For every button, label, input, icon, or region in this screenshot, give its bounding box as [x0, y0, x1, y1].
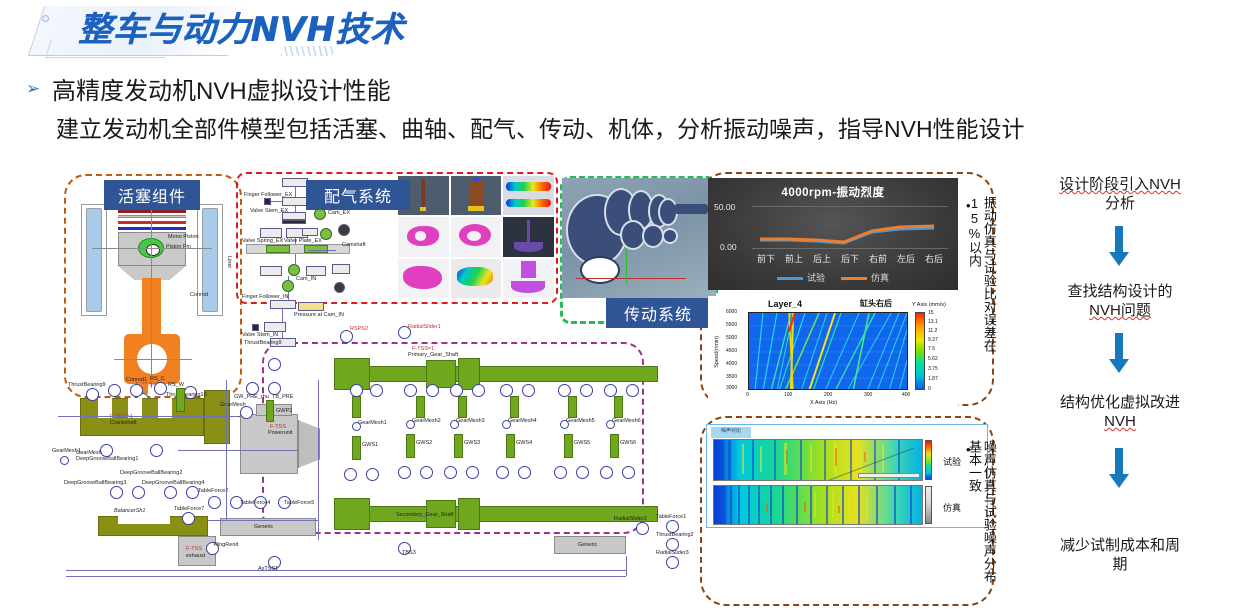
gear-lower-3: [662, 228, 678, 244]
spectrogram-sim-label: 仿真: [943, 501, 961, 514]
gw-pre-rhu-block: [176, 388, 185, 412]
label-cam-in: Cam_IN: [296, 276, 316, 282]
order-lines-svg: [749, 313, 908, 390]
label-dgbb2: DeepGrooveBallBearing2: [120, 470, 182, 476]
bearing-node-1: [86, 388, 99, 401]
label-axtss2: AxTSS1: [258, 566, 278, 572]
spectrogram-test-label: 试验: [943, 455, 961, 468]
flow-step-2-line1: 查找结构设计的: [1020, 283, 1220, 302]
section-heading: 高精度发动机NVH虚拟设计性能: [52, 71, 391, 106]
label-gearmesh1: GearMesh1: [358, 420, 387, 426]
label-rsps1: RSPS2: [350, 326, 368, 332]
chart-title-vibration: 4000rpm-振动烈度: [708, 184, 958, 200]
label-generic2: Generic: [578, 542, 597, 548]
flow-step-1-line1: 设计阶段引入NVH: [1059, 176, 1181, 193]
ytick-5500: 5500: [726, 322, 737, 328]
thumb-cam-lobe-2: [451, 217, 502, 256]
flow-step-2: 查找结构设计的 NVH问题: [1020, 283, 1220, 321]
chip-piston-assembly: 活塞组件: [104, 180, 200, 210]
flow-step-4: 减少试制成本和周 期: [1020, 537, 1220, 575]
chip-valvetrain: 配气系统: [306, 180, 410, 210]
gear-lower-2: [642, 224, 664, 248]
label-gw-pre-rhu: RS_W: [168, 382, 184, 388]
bearing-node-10: [164, 486, 177, 499]
label-finger-follower-ex: Finger Follower_EX: [244, 192, 292, 198]
piston-ring-2: [118, 215, 186, 218]
label-valve-spring-ex: Valve Spring_EX: [242, 238, 283, 244]
axis-x-marker: [576, 278, 686, 279]
label-conrod: Conrod: [190, 292, 208, 298]
piston-ring-4: [118, 227, 186, 230]
label-generic: Generic: [254, 524, 273, 530]
flow-arrow-1: [1108, 226, 1130, 266]
radialslider1-node: [636, 522, 649, 535]
label-rs-pre-rhu: GW_PRE_rhu: [234, 394, 269, 400]
legend-swatch-test: [777, 277, 803, 280]
label-thrustbearing9: ThrustBearing9: [68, 382, 106, 388]
label-gws3: GWS3: [464, 440, 480, 446]
thumb-cam-fea: [451, 259, 502, 298]
vibration-note-text: 振动仿真与试验比对误差在15%以内: [966, 196, 996, 386]
title-banner: 整车与动力NVH技术: [0, 0, 640, 62]
legend-entry-sim: 仿真: [841, 271, 889, 284]
spectrogram-test-image: [713, 439, 923, 481]
label-gearmesh2: GearMesh2: [412, 418, 441, 424]
label-mono-piston: Mono Piston: [168, 234, 199, 240]
label-gearmesh3: GearMesh3: [456, 418, 485, 424]
noise-note-wrap: • 噪声仿真与试验噪声分布基本一致: [966, 440, 971, 457]
label-finger-follower-in: Finger Follower_IN: [242, 294, 288, 300]
bearing-node-2: [108, 384, 121, 397]
arrow-bullet-icon: ➢: [26, 80, 52, 97]
legend-entry-test: 试验: [777, 271, 825, 284]
cbar-tick-5-62: 5.62: [928, 356, 938, 362]
centerline-horizontal-pin: [92, 248, 212, 249]
label-gws4: GWS4: [516, 440, 532, 446]
ytick-3000: 3000: [726, 385, 737, 391]
cbar-tick-15: 15: [928, 310, 934, 316]
label-tableforce5: TableForce7: [174, 506, 204, 512]
ytick-4000: 4000: [726, 361, 737, 367]
cbar-tick-1-87: 1.87: [928, 376, 938, 382]
label-tableforce1: TableForce2: [198, 488, 228, 494]
label-ringrend: GearMesh: [76, 450, 102, 456]
piston-ring-3: [118, 221, 186, 224]
thumb-valve-guide: [451, 176, 502, 215]
flow-step-1: 设计阶段引入NVH 分析: [1020, 176, 1220, 214]
order-map-plot-area: [748, 312, 908, 390]
colorbar-label: Y Axis (mm/s): [912, 302, 946, 308]
label-primary-gear-shaft: Primary_Gear_Shaft: [408, 352, 458, 358]
label-gws1: GWS1: [362, 442, 378, 448]
ytick-0: 0.00: [720, 242, 958, 252]
section-body-text: 建立发动机全部件模型包括活塞、曲轴、配气、传动、机体，分析振动噪声，指导NVH性…: [56, 110, 1025, 144]
xtick-0: 前下: [757, 252, 775, 265]
noise-spectrogram-panel: 噪声对比: [706, 424, 988, 528]
gearmesh-node-left: [60, 456, 69, 465]
label-rsps2: RadialSlider1: [408, 324, 441, 330]
label-gws6: GWS6: [620, 440, 636, 446]
ytick-5000: 5000: [726, 335, 737, 341]
label-valve-stem-ex: Valve Stem_EX: [250, 208, 288, 214]
flow-step-3-line2: NVH: [1104, 413, 1136, 430]
label-crankshaft: Crankshaft: [110, 420, 137, 426]
label-gearmesh-pre: GearMesh: [220, 402, 246, 408]
label-clutch-washer: ThrustBearing9: [244, 340, 282, 346]
label-radialslider1: RadialSlider2: [614, 516, 647, 522]
colorbar: [915, 312, 925, 390]
thumb-valve-fea-1: [503, 176, 554, 215]
powerunit-bell: [298, 420, 320, 468]
cbar-tick-0: 0: [928, 386, 931, 392]
thumb-cam-lobe-1: [398, 217, 449, 256]
liner-left: [86, 208, 102, 312]
cbar-tick-11-2: 11.2: [928, 328, 937, 334]
spectrogram-sim-image: [713, 485, 923, 525]
powerunit-body: [240, 414, 298, 474]
xtick-200: 200: [824, 392, 832, 398]
label-tableforce4: TableForce5: [284, 500, 314, 506]
label-tableforce7: RingRend: [214, 542, 238, 548]
crank-web-gap-3: [158, 398, 172, 418]
label-exhaust: exhaust: [186, 553, 205, 559]
flow-step-4-line2: 期: [1020, 556, 1220, 575]
xtick-1: 前上: [785, 252, 803, 265]
label-gws2: GWS2: [416, 440, 432, 446]
primary-gear-shaft: [348, 366, 658, 382]
label-exhaust-id: F-TSS: [186, 546, 202, 552]
order-map-chart: Layer_4 缸头右后: [708, 296, 958, 412]
legend-label-sim: 仿真: [871, 273, 889, 283]
xtick-300: 300: [864, 392, 872, 398]
label-tb-pre-rhu: RS_C: [150, 376, 165, 382]
label-balancersh1: BalancerSh1: [114, 508, 146, 514]
label-valve-plate-ex: Valve Plate_EX: [284, 238, 322, 244]
spectrogram-test-colorbar: [925, 440, 932, 480]
powertrain-system-schematic: F-TGS=1 Crankshaft BalancerSh1 ThrustBea…: [58, 320, 718, 608]
xtick-400: 400: [902, 392, 910, 398]
label-dgbb3: DeepGrooveBallBearing3: [64, 480, 126, 486]
flow-arrow-3: [1108, 448, 1130, 488]
cbar-tick-3-75: 3.75: [928, 366, 938, 372]
xtick-100: 100: [784, 392, 792, 398]
label-axtss1: TBS3: [402, 550, 416, 556]
output-shaft: [674, 204, 708, 214]
spectrogram-tab-label: 噪声对比: [711, 427, 751, 438]
flow-step-4-line1: 减少试制成本和周: [1020, 537, 1220, 556]
bearing-node-9: [132, 486, 145, 499]
bearing-node-7: [150, 444, 163, 457]
vibration-intensity-chart: 4000rpm-振动烈度 50.00 0.00 前下 前上 后上 后下 右前 左…: [708, 178, 958, 290]
xtick-0: 0: [746, 392, 749, 398]
label-dgbb1: DeepGrooveBallBearing1: [76, 456, 138, 462]
label-liner: Liner: [226, 256, 232, 268]
slide-root: 整车与动力NVH技术 ➢ 高精度发动机NVH虚拟设计性能 建立发动机全部件模型包…: [0, 0, 1238, 610]
balancer-notch: [118, 516, 170, 524]
thumb-valve-3d: [503, 217, 554, 256]
label-radialslider2: RadialSlider3: [656, 550, 689, 556]
label-gw-pre: GWP2: [276, 408, 292, 414]
ytick-50: 50.00: [714, 202, 958, 212]
legend-swatch-sim: [841, 277, 867, 280]
secondary-gear-shaft: [348, 506, 658, 522]
label-gearmesh4: GearMesh4: [508, 418, 537, 424]
flow-step-2-line2: NVH问题: [1089, 302, 1151, 319]
transmission-3d-view: [562, 178, 716, 298]
xtick-2: 后上: [813, 252, 831, 265]
legend-label-test: 试验: [807, 273, 825, 283]
title-decoration-dot: [42, 15, 49, 22]
valvetrain-thumbnail-mosaic: [398, 176, 554, 298]
label-tb-pre: TB_PRE: [272, 394, 293, 400]
xtick-5: 左后: [897, 252, 915, 265]
flow-step-1-line2: 分析: [1020, 195, 1220, 214]
vibration-legend: 试验 仿真: [708, 271, 958, 284]
tableforce-node-5: [182, 512, 195, 525]
xtick-6: 右后: [925, 252, 943, 265]
gear-front-white: [580, 256, 620, 284]
label-camshaft: Camshaft: [342, 242, 366, 248]
cbar-tick-7-5: 7.5: [928, 346, 935, 352]
label-dgbb4: DeepGrooveBallBearing4: [142, 480, 204, 486]
flow-step-3-line1: 结构优化虚拟改进: [1020, 394, 1220, 413]
flow-arrow-2: [1108, 333, 1130, 373]
xtick-3: 后下: [841, 252, 859, 265]
bearing-node-8: [110, 486, 123, 499]
label-secondary-gear-shaft: Secondary_Gear_Shaft: [396, 512, 453, 518]
ytick-3500: 3500: [726, 374, 737, 380]
chart-subtitle-location: 缸头右后: [860, 298, 892, 309]
thumb-valve-seat: [503, 259, 554, 298]
label-piston-pin: Piston Pin: [166, 244, 191, 250]
cbar-tick-9-37: 9.37: [928, 337, 938, 343]
spectrogram-sim-colorbar: [925, 486, 932, 524]
ytick-6000: 6000: [726, 309, 737, 315]
piston-ring-1: [118, 210, 186, 213]
label-gearmesh5: GearMesh5: [566, 418, 595, 424]
xtick-4: 右前: [869, 252, 887, 265]
noise-note-text: 噪声仿真与试验噪声分布基本一致: [966, 440, 996, 595]
radialslider2-node: [666, 556, 679, 569]
bearing-node-3: [130, 384, 143, 397]
page-title: 整车与动力NVH技术: [78, 2, 404, 51]
secondary-shaft-hub-1: [334, 498, 370, 530]
label-gws5: GWS5: [574, 440, 590, 446]
label-gearmesh6: GearMesh6: [612, 418, 641, 424]
tableforce-node-1: [208, 496, 221, 509]
thumb-cam-shaft-pink: [398, 259, 449, 298]
xlabel-frequency: X Axis (Hz): [810, 400, 837, 406]
ylabel-speed: Speed(r/min): [714, 336, 720, 368]
bullet-heading-row: ➢ 高精度发动机NVH虚拟设计性能: [26, 72, 1206, 104]
cbar-tick-13-1: 13.1: [928, 319, 938, 325]
flow-step-3: 结构优化虚拟改进 NVH: [1020, 394, 1220, 432]
label-cam-ex: Cam_EX: [328, 210, 350, 216]
vibration-x-tick-labels: 前下 前上 后上 后下 右前 左后 右后: [752, 252, 948, 265]
axis-y-marker: [626, 248, 627, 284]
gw-pre-block: [266, 400, 274, 422]
label-powerunit: Powerunit: [268, 430, 292, 436]
vibration-note-wrap: • 振动仿真与试验比对误差在15%以内: [966, 196, 971, 213]
label-thrustbearing2: ThrustBearing2: [656, 532, 694, 538]
clutch-node: [268, 358, 281, 371]
secondary-shaft-hub-3: [458, 498, 480, 530]
label-radialslider3: TableForce1: [656, 514, 686, 520]
ytick-4500: 4500: [726, 348, 737, 354]
label-tableforce3: TableForce4: [240, 500, 270, 506]
label-thrustbearing10: ThrustBearing10: [166, 392, 207, 398]
chart-title-layer4: Layer_4: [768, 299, 802, 309]
label-pressure-at-cam-in: Pressure at Cam_IN: [294, 312, 344, 318]
